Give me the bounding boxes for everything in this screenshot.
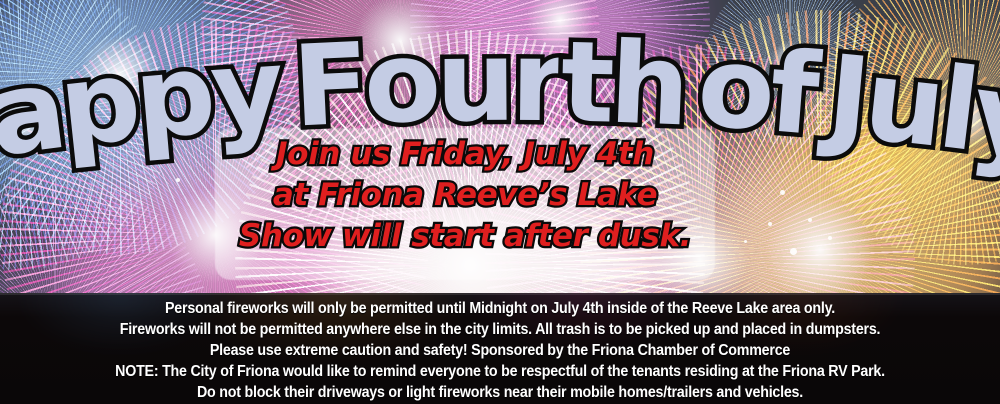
footer-line-1: Personal fireworks will only be permitte… bbox=[40, 298, 960, 319]
event-details: Join us Friday, July 4th at Friona Reeve… bbox=[215, 134, 715, 257]
footer-line-5: Do not block their driveways or light fi… bbox=[40, 382, 960, 403]
event-line-2: at Friona Reeve’s Lake bbox=[215, 175, 715, 216]
spark-dot bbox=[790, 248, 797, 255]
spark-dot bbox=[744, 240, 747, 243]
headline-letter: r bbox=[510, 26, 564, 139]
headline-letter: u bbox=[859, 44, 948, 164]
headline-letter: y bbox=[207, 33, 285, 150]
spark-dot bbox=[768, 222, 772, 226]
headline-letter: t bbox=[560, 26, 614, 139]
footer-notice-bar: Personal fireworks will only be permitte… bbox=[0, 293, 1000, 404]
spark-dot bbox=[780, 190, 785, 195]
headline-letter: o bbox=[695, 31, 777, 147]
event-line-1: Join us Friday, July 4th bbox=[215, 134, 715, 175]
event-line-3: Show will start after dusk. bbox=[215, 216, 715, 257]
spark-dot bbox=[828, 236, 832, 240]
spark-dot bbox=[808, 218, 812, 222]
spark-dot bbox=[176, 178, 180, 182]
headline-letter: o bbox=[363, 26, 441, 140]
footer-line-2: Fireworks will not be permitted anywhere… bbox=[40, 319, 960, 340]
footer-line-3: Please use extreme caution and safety! S… bbox=[40, 340, 960, 361]
headline-letter: u bbox=[436, 26, 515, 139]
headline-letter: p bbox=[131, 37, 219, 155]
fourth-of-july-banner: HappyFourthofJuly! Join us Friday, July … bbox=[0, 0, 1000, 404]
headline-letter: p bbox=[55, 44, 145, 164]
headline-letter: h bbox=[607, 27, 689, 142]
headline-letter: F bbox=[290, 28, 370, 143]
footer-line-4: NOTE: The City of Friona would like to r… bbox=[40, 361, 960, 382]
footer-notice-text: Personal fireworks will only be permitte… bbox=[0, 293, 1000, 403]
